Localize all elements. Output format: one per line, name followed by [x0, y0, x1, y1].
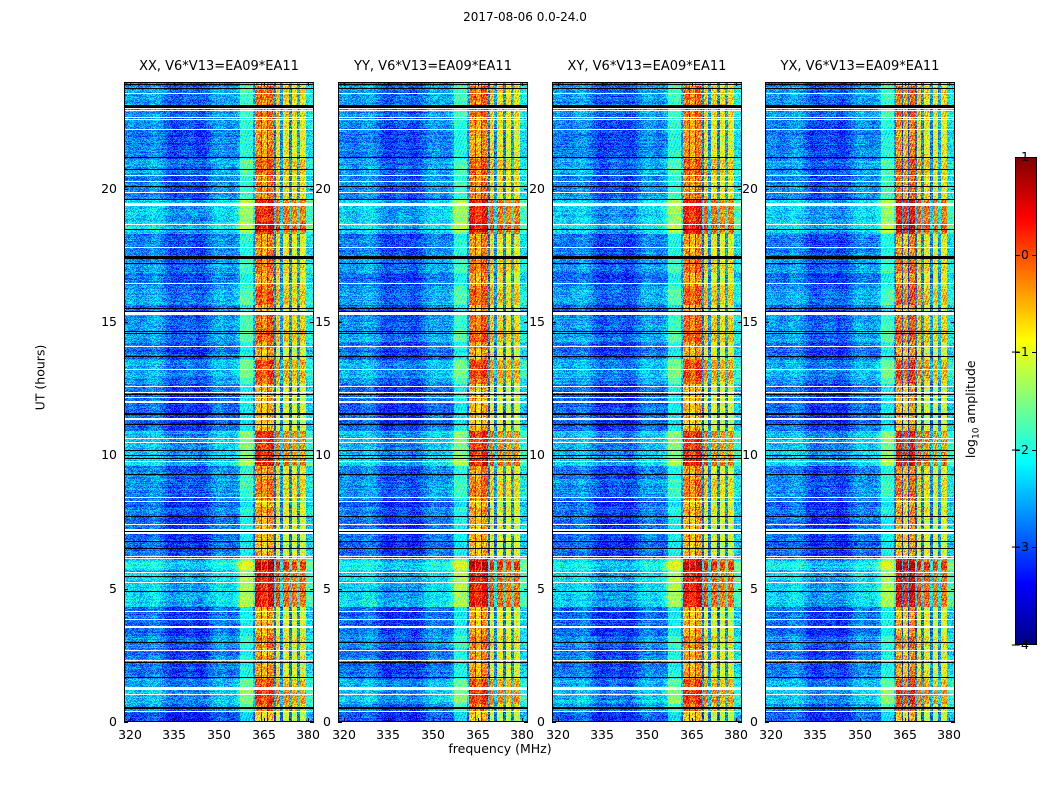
colorbar-tick-label: 0 [979, 247, 1029, 262]
x-tick-mark-top [478, 82, 479, 86]
x-tick-mark-top [264, 82, 265, 86]
panel-xx[interactable]: XX, V6*V13=EA09*EA1132033535036538005101… [124, 82, 314, 722]
y-tick-mark [338, 189, 342, 190]
x-tick-mark [647, 718, 648, 722]
colorbar-tick-label: −4 [979, 637, 1029, 652]
figure-suptitle: 2017-08-06 0.0-24.0 [0, 10, 1050, 24]
x-tick-mark-top [692, 82, 693, 86]
x-tick-mark-top [388, 82, 389, 86]
colorbar-tick-mark-right [1032, 450, 1037, 451]
waterfall-image-yx[interactable] [765, 82, 955, 722]
y-tick-mark [338, 322, 342, 323]
x-tick-mark-top [815, 82, 816, 86]
x-tick-mark [344, 718, 345, 722]
waterfall-image-xy[interactable] [552, 82, 742, 722]
x-tick-mark-top [308, 82, 309, 86]
y-tick-mark-right [951, 722, 955, 723]
colorbar-tick-mark-right [1032, 352, 1037, 353]
x-tick-mark-top [860, 82, 861, 86]
y-tick-label: 20 [57, 181, 117, 196]
y-tick-mark-right [951, 455, 955, 456]
y-tick-mark-right [951, 322, 955, 323]
y-tick-label: 5 [485, 581, 545, 596]
y-tick-label: 0 [485, 714, 545, 729]
y-tick-label: 0 [698, 714, 758, 729]
y-tick-label: 5 [698, 581, 758, 596]
y-tick-mark [552, 189, 556, 190]
y-tick-mark-right [951, 189, 955, 190]
y-tick-label: 10 [57, 447, 117, 462]
x-tick-mark-top [522, 82, 523, 86]
panel-xy[interactable]: XY, V6*V13=EA09*EA1132033535036538005101… [552, 82, 742, 722]
x-tick-mark-top [736, 82, 737, 86]
y-tick-mark [552, 589, 556, 590]
x-tick-mark-top [558, 82, 559, 86]
x-tick-mark [602, 718, 603, 722]
x-tick-mark-top [602, 82, 603, 86]
colorbar-tick-mark-right [1032, 547, 1037, 548]
y-tick-label: 20 [698, 181, 758, 196]
x-tick-mark [860, 718, 861, 722]
y-tick-mark [124, 722, 128, 723]
y-tick-mark [124, 455, 128, 456]
x-tick-mark [478, 718, 479, 722]
colorbar-gradient [1015, 157, 1037, 645]
waterfall-image-xx[interactable] [124, 82, 314, 722]
x-tick-label: 380 [919, 727, 979, 742]
x-tick-mark-top [433, 82, 434, 86]
x-tick-mark [219, 718, 220, 722]
x-tick-mark [771, 718, 772, 722]
colorbar-tick-label: −3 [979, 539, 1029, 554]
panel-title-yx: YX, V6*V13=EA09*EA11 [725, 59, 995, 74]
x-tick-mark [433, 718, 434, 722]
x-tick-mark [388, 718, 389, 722]
waterfall-image-yy[interactable] [338, 82, 528, 722]
x-tick-mark [264, 718, 265, 722]
x-tick-mark-top [647, 82, 648, 86]
y-tick-mark [765, 189, 769, 190]
colorbar-tick-label: −2 [979, 442, 1029, 457]
y-tick-label: 0 [271, 714, 331, 729]
x-tick-mark-top [344, 82, 345, 86]
x-axis-label: frequency (MHz) [400, 741, 600, 756]
y-tick-mark [124, 322, 128, 323]
y-tick-mark [552, 322, 556, 323]
x-tick-mark [815, 718, 816, 722]
colorbar-axis-label: log10 amplitude [963, 349, 982, 469]
panel-yx[interactable]: YX, V6*V13=EA09*EA1132033535036538005101… [765, 82, 955, 722]
x-tick-mark-top [174, 82, 175, 86]
x-tick-mark-top [219, 82, 220, 86]
y-tick-label: 20 [271, 181, 331, 196]
colorbar-tick-mark-right [1032, 255, 1037, 256]
colorbar: −4−3−2−101 [1015, 157, 1037, 645]
y-tick-label: 5 [271, 581, 331, 596]
x-tick-mark [949, 718, 950, 722]
x-tick-mark-top [130, 82, 131, 86]
y-tick-label: 15 [698, 314, 758, 329]
y-tick-mark [765, 455, 769, 456]
y-tick-mark [124, 189, 128, 190]
y-tick-mark [552, 455, 556, 456]
y-tick-mark [552, 722, 556, 723]
y-tick-mark [338, 589, 342, 590]
y-tick-mark [124, 589, 128, 590]
x-tick-mark-top [949, 82, 950, 86]
y-tick-mark-right [951, 589, 955, 590]
y-tick-label: 10 [485, 447, 545, 462]
y-tick-mark [338, 722, 342, 723]
colorbar-tick-label: 1 [979, 149, 1029, 164]
y-axis-label: UT (hours) [33, 328, 48, 428]
colorbar-tick-mark-right [1032, 157, 1037, 158]
y-tick-mark [765, 322, 769, 323]
y-tick-label: 20 [485, 181, 545, 196]
y-tick-mark [338, 455, 342, 456]
y-tick-mark [765, 589, 769, 590]
figure-canvas: 2017-08-06 0.0-24.0 XX, V6*V13=EA09*EA11… [0, 0, 1050, 800]
x-tick-mark [692, 718, 693, 722]
colorbar-tick-label: −1 [979, 344, 1029, 359]
x-tick-mark [174, 718, 175, 722]
panel-yy[interactable]: YY, V6*V13=EA09*EA1132033535036538005101… [338, 82, 528, 722]
y-tick-label: 10 [271, 447, 331, 462]
y-tick-mark [765, 722, 769, 723]
y-tick-label: 0 [57, 714, 117, 729]
y-tick-label: 5 [57, 581, 117, 596]
y-tick-label: 15 [485, 314, 545, 329]
y-tick-label: 10 [698, 447, 758, 462]
y-tick-label: 15 [271, 314, 331, 329]
y-tick-label: 15 [57, 314, 117, 329]
x-tick-mark-top [771, 82, 772, 86]
x-tick-mark [558, 718, 559, 722]
x-tick-mark [130, 718, 131, 722]
colorbar-tick-mark-right [1032, 644, 1037, 645]
x-tick-mark [905, 718, 906, 722]
x-tick-mark-top [905, 82, 906, 86]
